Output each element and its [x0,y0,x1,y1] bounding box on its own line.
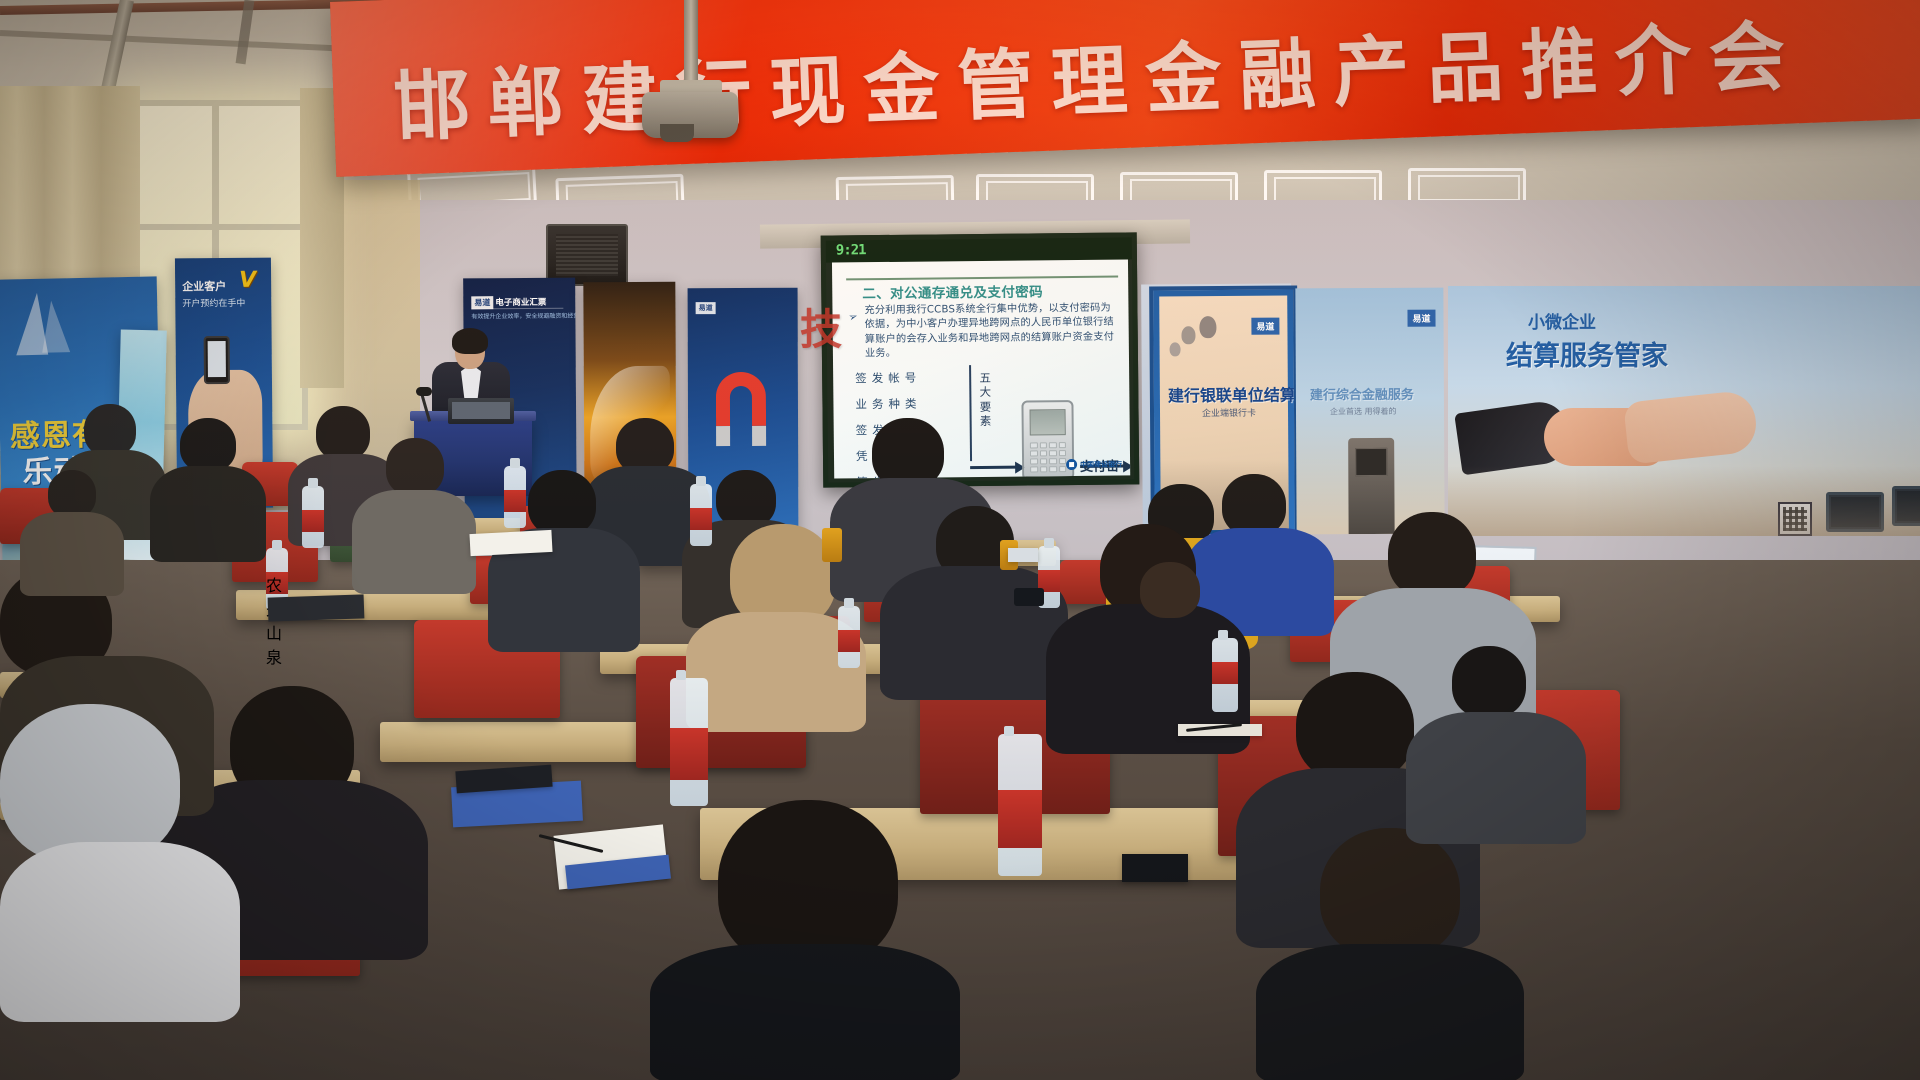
slide-arrow-to-device [970,466,1016,469]
ebank-title: 电子商业汇票 [495,296,546,308]
slide-divider-line [969,365,972,461]
ebank-divider [471,308,563,310]
slide-title: 二、对公通存通兑及支付密码 [862,280,1120,303]
unionpay-banner-title: 建行银联单位结算卡 [1168,381,1299,406]
device-keypad [1030,442,1066,472]
water-bottle [838,606,860,668]
bottle-label [302,510,324,532]
bank-logo-mark-icon [1066,459,1077,470]
ceiling-light-panel-7 [1408,168,1526,204]
screen-signal-text: 9:21 [836,242,866,258]
projector-lens [660,124,694,142]
bank-logo-text: 中国建设银行 [1080,459,1122,469]
unionpay-banner-logo: 易道 [1251,318,1279,335]
small-micro-title-small: 小微企业 [1528,308,1596,333]
screen-top-strip: 9:21 [826,237,1132,262]
smartphone [1014,588,1044,606]
projector-stem [684,0,698,86]
bottle-label [998,790,1042,848]
bottle-label: 农夫山泉 [266,572,288,594]
water-bottle [302,486,324,548]
window-mullion-horizontal [134,224,302,230]
smartphone-illustration-icon [204,336,230,384]
vip-badge-icon: V [239,268,256,293]
seminar-photo-scene: 邯郸建行现金管理金融产品推介会 9:21 二、对公通存通兑及支付密码 ➢ 充分利… [0,0,1920,1080]
water-bottle [1212,638,1238,712]
ebank-sub: 有效提升企业效率，安全规避融资和经营风险 [471,310,577,320]
slide-body-text: 充分利用我行CCBS系统全行集中优势，以支付密码为依据，为中小客户办理异地跨网点… [864,302,1121,363]
podium-laptop [448,398,514,424]
magnet-banner-logo: 易道 [696,302,716,314]
small-micro-title-big: 结算服务管家 [1506,334,1668,373]
integrated-banner-sub: 企业首选 用得着的 [1330,406,1397,417]
magnet-icon [716,372,766,426]
bottle-label [690,508,712,530]
card [1008,548,1038,562]
bottle-label [670,728,708,780]
slide-bank-logo: 中国建设银行 [1066,459,1122,471]
notebook [268,594,365,621]
wall-speaker [546,224,628,286]
water-bottle [690,484,712,546]
balloon-icon-2 [1199,316,1216,338]
enterprise-vip-sub: 开户预约在手中 [182,296,245,310]
slide-vertical-label: 五大要素 [977,371,994,429]
rollup-banner-integrated-service: 易道 建行综合金融服务 企业首选 用得着的 [1295,288,1444,535]
enterprise-vip-title: 企业客户 [182,278,226,294]
atm-machine-icon [1348,438,1395,534]
presenter-hair [452,328,488,354]
slide-bullet-icon: ➢ [847,309,860,324]
paper-cup [822,528,842,562]
slide-label-1: 业务种类 [855,391,965,418]
water-bottle [670,678,708,806]
document-sheet [469,530,552,556]
bottle-label [838,630,860,652]
wall-calligraphy: 技 [800,296,842,357]
bottle-label [504,490,526,512]
slide-label-0: 签发帐号 [855,365,965,392]
city-skyline-graphic-2 [1448,466,1920,536]
water-bottle [504,466,526,528]
smartphone [1122,854,1188,882]
projection-screen: 9:21 二、对公通存通兑及支付密码 ➢ 充分利用我行CCBS系统全行集中优势，… [821,232,1140,487]
unionpay-banner-sub: 企业端银行卡 [1202,406,1256,419]
integrated-banner-logo: 易道 [1407,310,1435,327]
device-screen [1030,409,1066,435]
water-bottle [998,734,1042,876]
balloon-icon-1 [1181,326,1195,344]
handshake-hand-right [1623,389,1759,464]
microphone-icon [416,387,432,396]
integrated-banner-title: 建行综合金融服务 [1310,384,1414,404]
balloon-icon-3 [1170,342,1181,356]
rollup-banner-small-micro: 小微企业 结算服务管家 [1448,286,1920,536]
sail-shape-icon-2 [41,300,70,353]
bottle-label [1212,662,1238,684]
